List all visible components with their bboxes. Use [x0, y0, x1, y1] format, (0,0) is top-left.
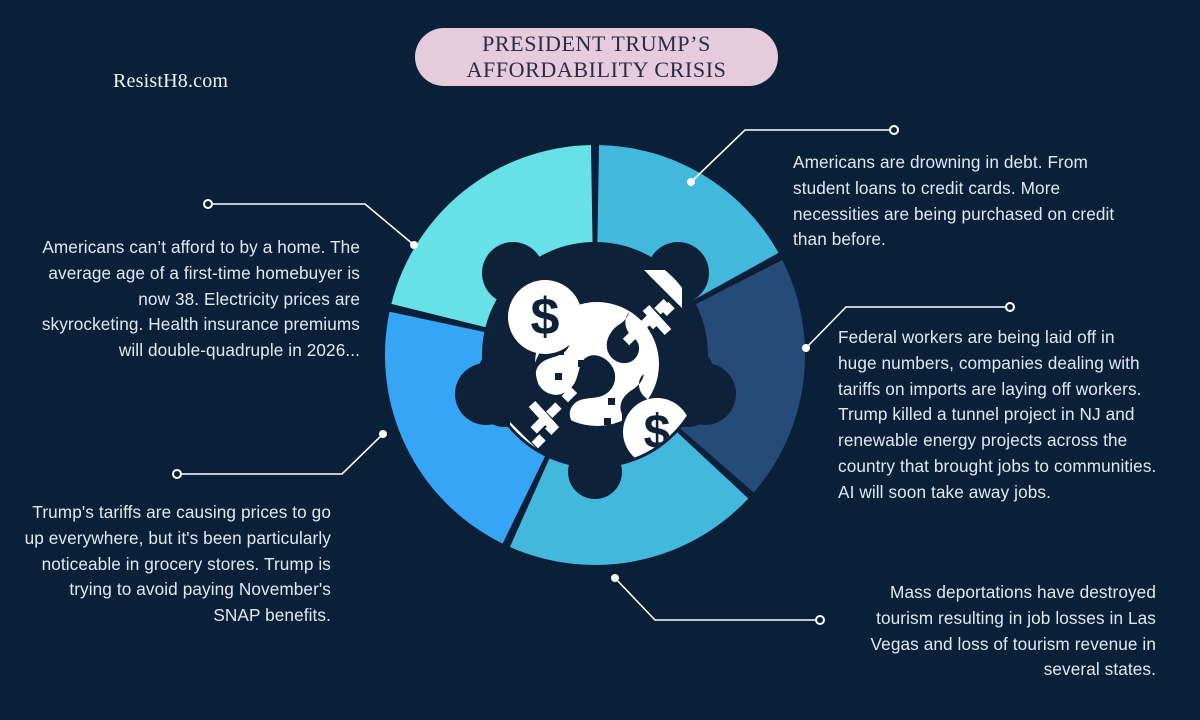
title-line-2: AFFORDABILITY CRISIS [467, 57, 727, 82]
connector-tariffs [178, 434, 383, 474]
svg-text:$: $ [531, 288, 560, 346]
infographic-canvas: ResistH8.com PRESIDENT TRUMP’S AFFORDABI… [0, 0, 1200, 720]
brand-logo-text: ResistH8.com [113, 70, 228, 93]
page-title: PRESIDENT TRUMP’S AFFORDABILITY CRISIS [467, 31, 727, 83]
callout-housing: Americans can’t afford to by a home. The… [38, 235, 360, 364]
pie-chart: $ $ [382, 142, 808, 568]
connector-dot-tariffs-end [173, 470, 181, 478]
title-line-1: PRESIDENT TRUMP’S [482, 31, 711, 56]
connector-dot-home-end [204, 200, 212, 208]
callout-tourism: Mass deportations have destroyed tourism… [830, 580, 1156, 683]
connector-dot-tourism-start [611, 574, 619, 582]
pie-chart-svg: $ $ [382, 142, 808, 568]
callout-tariffs: Trump's tariffs are causing prices to go… [18, 500, 331, 629]
connector-dot-debt-end [890, 126, 898, 134]
connector-dot-tourism-end [816, 616, 824, 624]
callout-federal-workers: Federal workers are being laid off in hu… [838, 325, 1158, 506]
connector-tourism [615, 578, 819, 620]
connector-dot-federal-end [1006, 303, 1014, 311]
callout-debt: Americans are drowning in debt. From stu… [793, 150, 1123, 253]
dollar-coin-icon-top: $ [508, 280, 582, 354]
title-pill: PRESIDENT TRUMP’S AFFORDABILITY CRISIS [415, 28, 778, 86]
